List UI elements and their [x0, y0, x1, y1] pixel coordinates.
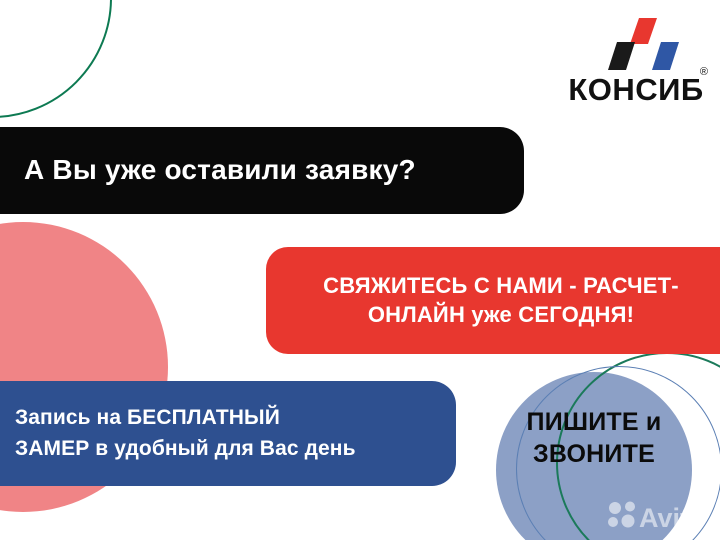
offer-text-line-2: ОНЛАЙН уже СЕГОДНЯ! — [368, 302, 634, 327]
offer-banner: СВЯЖИТЕСЬ С НАМИ - РАСЧЕТ- ОНЛАЙН уже СЕ… — [266, 247, 720, 354]
promo-poster: КОНСИБ ® А Вы уже оставили заявку? СВЯЖИ… — [0, 0, 720, 540]
decorative-green-outline-circle-icon — [0, 0, 112, 118]
svg-text:Avito: Avito — [639, 503, 706, 533]
logo-mark-icon — [608, 18, 682, 74]
contact-callout: ПИШИТЕ и ЗВОНИТЕ — [492, 406, 696, 470]
booking-text-line-1: Запись на БЕСПЛАТНЫЙ — [15, 406, 280, 429]
logo-wordmark: КОНСИБ — [566, 74, 706, 105]
headline-text: А Вы уже оставили заявку? — [24, 154, 416, 186]
offer-text-line-1: СВЯЖИТЕСЬ С НАМИ - РАСЧЕТ- — [323, 273, 679, 298]
registered-trademark-icon: ® — [700, 66, 708, 78]
contact-callout-line-1: ПИШИТЕ и — [527, 408, 662, 436]
booking-banner: Запись на БЕСПЛАТНЫЙ ЗАМЕР в удобный для… — [0, 381, 456, 486]
booking-text-line-2: ЗАМЕР в удобный для Вас день — [15, 437, 356, 460]
offer-text: СВЯЖИТЕСЬ С НАМИ - РАСЧЕТ- ОНЛАЙН уже СЕ… — [288, 272, 714, 329]
avito-watermark-icon: Avito — [606, 500, 714, 534]
brand-logo: КОНСИБ ® — [566, 18, 706, 106]
headline-banner: А Вы уже оставили заявку? — [0, 127, 524, 214]
booking-text: Запись на БЕСПЛАТНЫЙ ЗАМЕР в удобный для… — [15, 403, 356, 464]
contact-callout-line-2: ЗВОНИТЕ — [533, 440, 655, 468]
